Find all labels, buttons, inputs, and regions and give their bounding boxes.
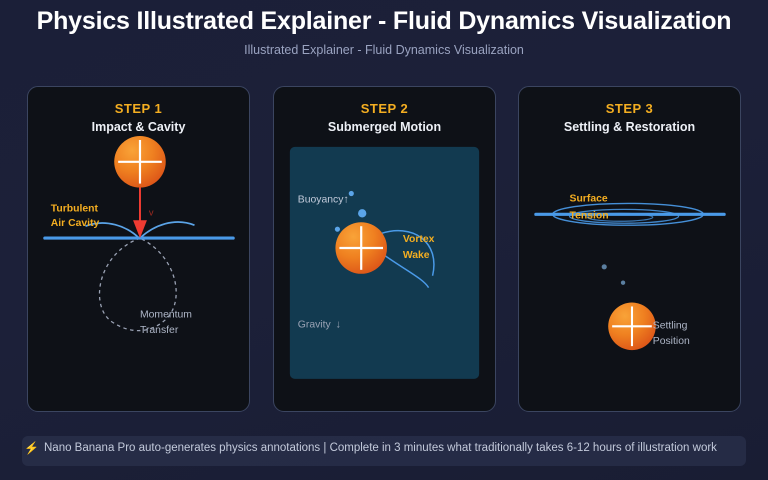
- label-turbulent: Turbulent: [51, 203, 99, 214]
- lightning-icon: ⚡: [24, 441, 39, 455]
- bubble-upper: [602, 264, 607, 269]
- label-tension: Tension: [570, 210, 609, 221]
- diagram-impact-cavity: Turbulent Air Cavity v Momentum Transfer: [28, 87, 249, 411]
- label-settling: Settling: [653, 320, 688, 331]
- header: Physics Illustrated Explainer - Fluid Dy…: [0, 0, 768, 76]
- label-transfer: Transfer: [140, 325, 179, 336]
- page-subtitle: Illustrated Explainer - Fluid Dynamics V…: [0, 43, 768, 57]
- water-body: [290, 147, 479, 379]
- label-vortex: Vortex: [403, 234, 435, 245]
- label-wake: Wake: [403, 250, 430, 261]
- buoyancy-arrow-icon: ↑: [343, 193, 348, 205]
- panel-step-1[interactable]: STEP 1 Impact & Cavity: [27, 86, 250, 412]
- label-momentum: Momentum: [140, 309, 192, 320]
- label-buoyancy: Buoyancy: [298, 194, 344, 205]
- splash-curve-right: [140, 222, 195, 238]
- gravity-arrow-icon: ↓: [335, 318, 340, 330]
- bubble-large: [358, 209, 366, 217]
- infographic-canvas: Physics Illustrated Explainer - Fluid Dy…: [0, 0, 768, 480]
- label-surface: Surface: [570, 193, 608, 204]
- footer-caption: Nano Banana Pro auto-generates physics a…: [44, 442, 717, 454]
- bubble-small-upper: [349, 191, 354, 196]
- panel-step-2[interactable]: STEP 2 Submerged Motion: [273, 86, 496, 412]
- page-title: Physics Illustrated Explainer - Fluid Dy…: [0, 7, 768, 36]
- bubble-small-lower: [335, 227, 340, 232]
- diagram-submerged-motion: Buoyancy ↑ Vortex Wake Gravity ↓: [274, 87, 495, 411]
- panel-step-3[interactable]: STEP 3 Settling & Restoration: [518, 86, 741, 412]
- label-gravity: Gravity: [298, 319, 332, 330]
- diagram-settling-restoration: Surface Tension Settling Position: [519, 87, 740, 411]
- label-velocity: v: [149, 206, 154, 217]
- bubble-lower: [621, 281, 625, 285]
- label-position: Position: [653, 336, 690, 347]
- label-air-cavity: Air Cavity: [51, 218, 100, 229]
